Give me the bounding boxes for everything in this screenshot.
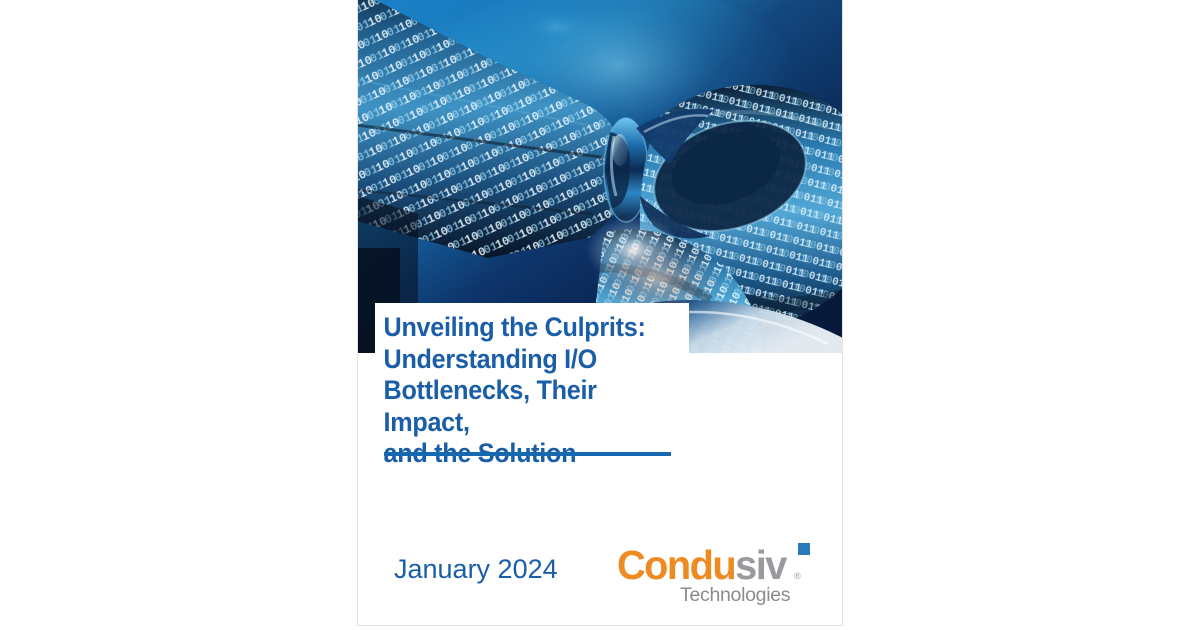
logo-square-icon (798, 543, 810, 555)
binary-funnel-illustration: 10 01 011 100 10 01 (358, 0, 843, 353)
cover-footer: January 2024 Condusiv ® Technologies (358, 530, 843, 620)
document-page: 10 01 011 100 10 01 (357, 0, 843, 626)
condusiv-logo: Condusiv ® Technologies (617, 539, 827, 611)
logo-wordmark-secondary: siv (735, 542, 786, 588)
hero-image: 10 01 011 100 10 01 (358, 0, 843, 353)
publication-date: January 2024 (394, 554, 558, 585)
registered-trademark-icon: ® (794, 572, 801, 581)
logo-wordmark: Condusiv (617, 543, 786, 587)
logo-tagline: Technologies (680, 584, 790, 606)
logo-wordmark-primary: Condu (617, 542, 735, 588)
page-title: Unveiling the Culprits: Understanding I/… (375, 312, 660, 470)
title-underline-rule (384, 452, 671, 456)
